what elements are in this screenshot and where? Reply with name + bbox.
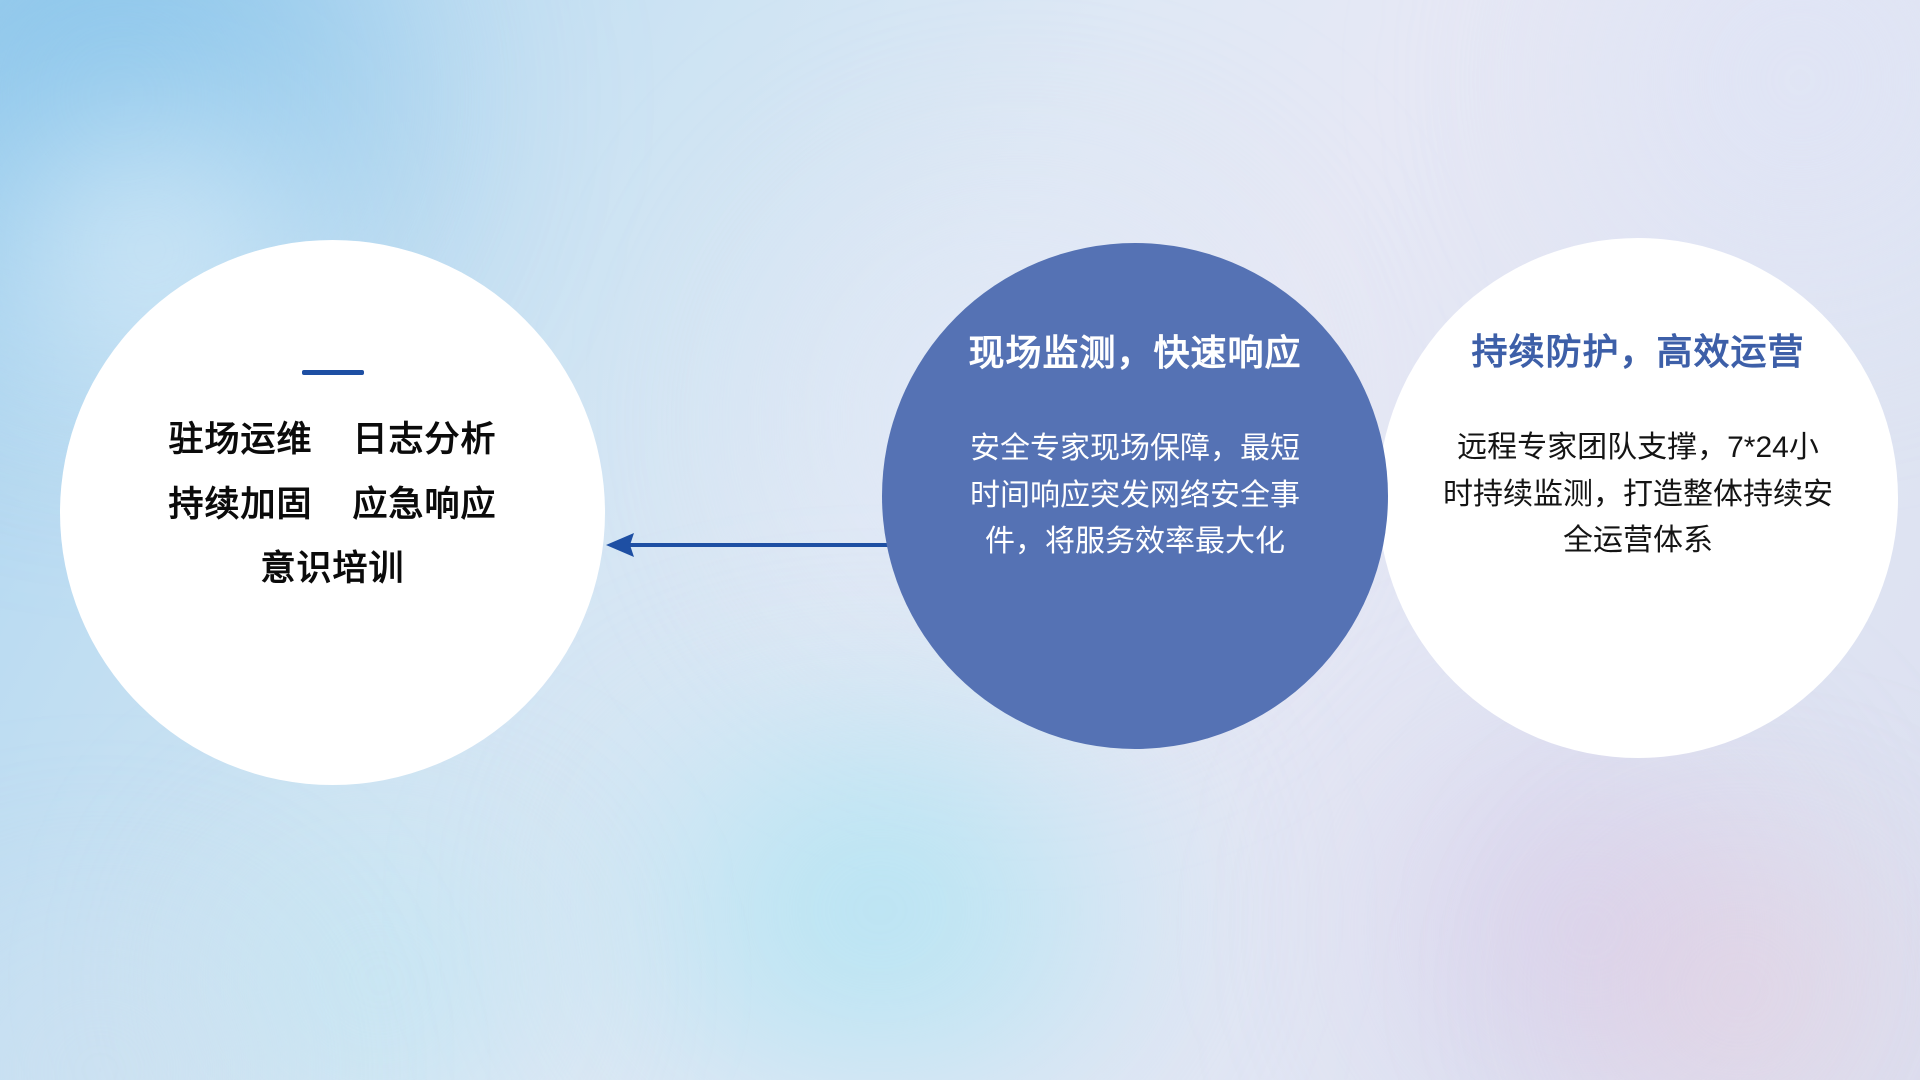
services-row: 持续加固 应急响应: [168, 486, 496, 525]
continuous-protection-circle[interactable]: 持续防护，高效运营 远程专家团队支撑，7*24小时持续监测，打造整体持续安全运营…: [1378, 238, 1898, 758]
services-list: 驻场运维 日志分析 持续加固 应急响应 意识培训: [60, 421, 605, 589]
service-item-rizhifenxi[interactable]: 日志分析: [353, 421, 497, 460]
left-pointing-arrow: [600, 515, 900, 575]
service-item-chixujiagu[interactable]: 持续加固: [168, 486, 312, 525]
divider-dash-icon: [302, 370, 364, 375]
onsite-monitoring-body: 安全专家现场保障，最短时间响应突发网络安全事件，将服务效率最大化: [970, 426, 1300, 566]
onsite-monitoring-circle[interactable]: 现场监测，快速响应 安全专家现场保障，最短时间响应突发网络安全事件，将服务效率最…: [882, 243, 1388, 749]
onsite-monitoring-title: 现场监测，快速响应: [968, 331, 1301, 374]
arrow-icon: [600, 515, 900, 575]
service-item-zhuchangyunwei[interactable]: 驻场运维: [168, 421, 312, 460]
services-row: 驻场运维 日志分析: [168, 421, 496, 460]
blob-bottom-pink: [1500, 840, 1920, 1080]
blob-bottom-violet: [1280, 720, 1900, 1080]
services-circle[interactable]: 驻场运维 日志分析 持续加固 应急响应 意识培训: [60, 240, 605, 785]
blob-bottom-cyan: [430, 700, 1330, 1080]
services-row: 意识培训: [260, 550, 404, 589]
slide-canvas: 驻场运维 日志分析 持续加固 应急响应 意识培训 持续防护，高效运营 远程专家团…: [0, 0, 1920, 1080]
service-item-yingjixiangying[interactable]: 应急响应: [353, 486, 497, 525]
service-item-yishipeixun[interactable]: 意识培训: [260, 550, 404, 589]
continuous-protection-title: 持续防护，高效运营: [1471, 330, 1804, 373]
blob-bottom-cyan-2: [120, 830, 640, 1080]
continuous-protection-body: 远程专家团队支撑，7*24小时持续监测，打造整体持续安全运营体系: [1443, 425, 1833, 565]
blob-bottom-left: [0, 900, 380, 1080]
